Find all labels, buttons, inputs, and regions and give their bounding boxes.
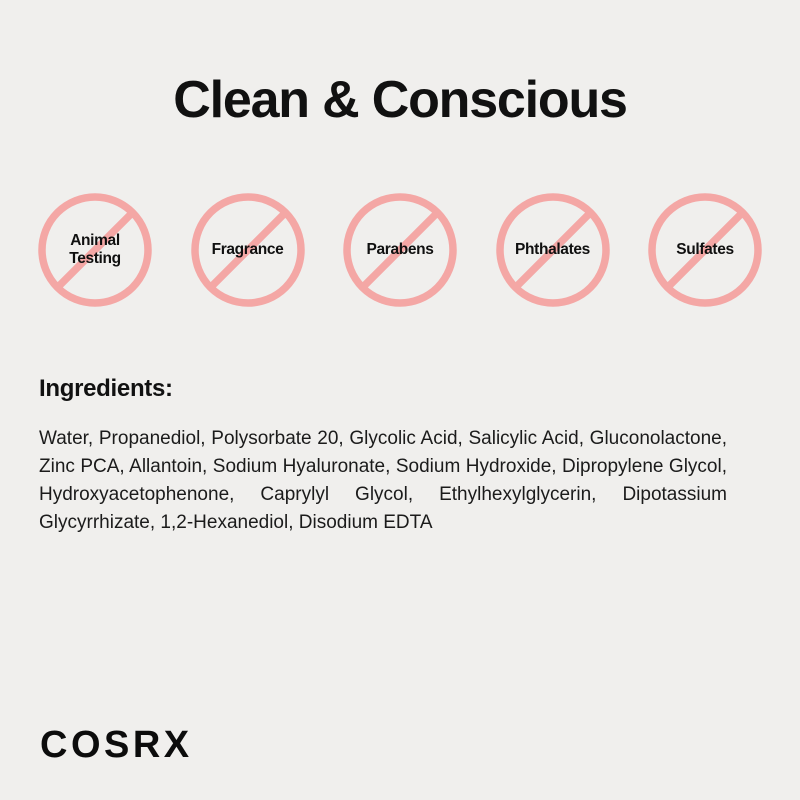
badge-label: Fragrance xyxy=(212,241,284,259)
badge-fragrance: Fragrance xyxy=(191,193,305,307)
badge-parabens: Parabens xyxy=(343,193,457,307)
free-from-badge-row: Animal Testing Fragrance Parabens Phthal… xyxy=(0,193,800,313)
badge-label: Phthalates xyxy=(515,241,590,259)
badge-label: Parabens xyxy=(367,241,434,259)
ingredients-list-text: Water, Propanediol, Polysorbate 20, Glyc… xyxy=(39,425,727,537)
ingredients-heading: Ingredients: xyxy=(39,375,739,403)
brand-logo: COSRX xyxy=(40,726,193,764)
badge-phthalates: Phthalates xyxy=(496,193,610,307)
badge-label: Animal Testing xyxy=(50,232,140,269)
product-info-card: Clean & Conscious Animal Testing Fragran… xyxy=(0,0,800,800)
page-title: Clean & Conscious xyxy=(0,72,800,129)
badge-label: Sulfates xyxy=(676,241,734,259)
ingredients-section: Ingredients: Water, Propanediol, Polysor… xyxy=(39,375,739,537)
badge-animal-testing: Animal Testing xyxy=(38,193,152,307)
badge-sulfates: Sulfates xyxy=(648,193,762,307)
